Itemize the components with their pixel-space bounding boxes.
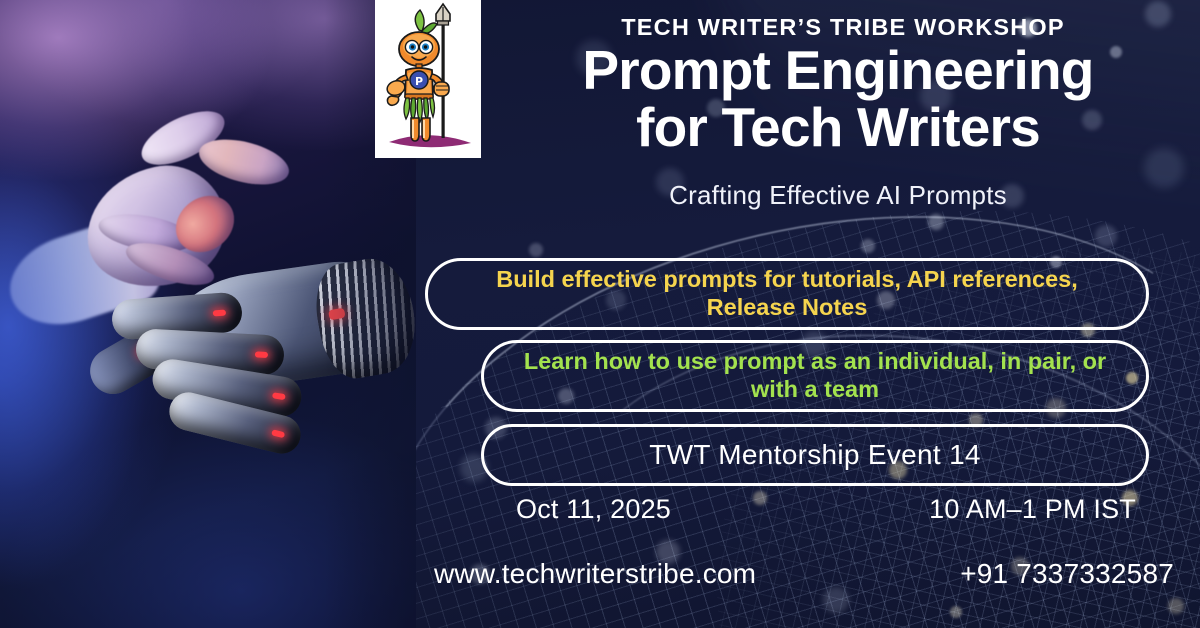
pill-learn-usage-label: Learn how to use prompt as an individual…	[510, 348, 1120, 403]
pill-build-prompts-label: Build effective prompts for tutorials, A…	[454, 266, 1120, 321]
human-and-robot-hand-photo	[0, 0, 416, 628]
robotic-hand-illustration	[82, 258, 416, 488]
title-line-2: for Tech Writers	[476, 99, 1200, 156]
event-promo-banner: P TECH WR	[0, 0, 1200, 628]
event-time: 10 AM–1 PM IST	[929, 494, 1136, 525]
page-subtitle: Crafting Effective AI Prompts	[416, 180, 1200, 211]
schedule-row: Oct 11, 2025 10 AM–1 PM IST	[516, 494, 1136, 525]
page-title: Prompt Engineering for Tech Writers	[416, 42, 1200, 156]
pill-event-title-label: TWT Mentorship Event 14	[649, 438, 981, 471]
banner-content: TECH WRITER’S TRIBE WORKSHOP Prompt Engi…	[416, 0, 1200, 628]
tech-writers-tribe-logo: P	[375, 0, 481, 158]
mascot-icon: P	[375, 0, 481, 158]
pill-build-prompts: Build effective prompts for tutorials, A…	[425, 258, 1149, 330]
event-date: Oct 11, 2025	[516, 494, 671, 525]
website-url[interactable]: www.techwriterstribe.com	[434, 558, 756, 590]
pill-event-title: TWT Mentorship Event 14	[481, 424, 1149, 486]
pill-learn-usage: Learn how to use prompt as an individual…	[481, 340, 1149, 412]
title-line-1: Prompt Engineering	[582, 39, 1093, 101]
contact-row: www.techwriterstribe.com +91 7337332587	[434, 558, 1174, 590]
svg-text:P: P	[415, 75, 423, 88]
workshop-kicker: TECH WRITER’S TRIBE WORKSHOP	[416, 14, 1200, 41]
phone-number[interactable]: +91 7337332587	[960, 558, 1174, 590]
